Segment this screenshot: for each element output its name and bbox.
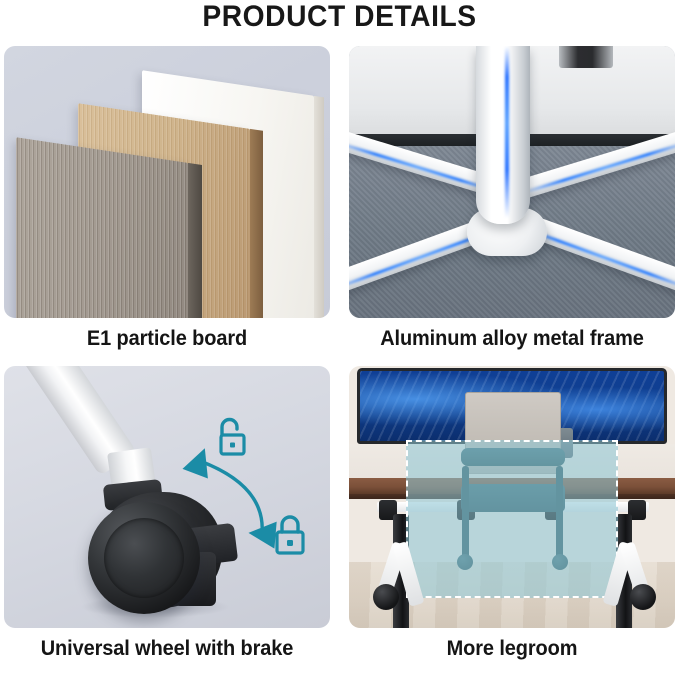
caption-aluminum-alloy-metal-frame: Aluminum alloy metal frame xyxy=(357,327,667,351)
product-details-infographic: PRODUCT DETAILS E1 particle board Alumin… xyxy=(0,0,679,673)
curved-double-arrow xyxy=(200,461,262,534)
lock-icon xyxy=(272,514,312,558)
aluminum-frame-image xyxy=(349,46,675,318)
panel-aluminum-alloy-metal-frame: Aluminum alloy metal frame xyxy=(349,46,675,351)
more-legroom-image xyxy=(349,366,675,628)
panel-universal-wheel-with-brake: Universal wheel with brake xyxy=(4,366,330,661)
e1-particle-board-image xyxy=(4,46,330,318)
legroom-highlight-area xyxy=(406,440,618,598)
frame-clamp xyxy=(559,46,613,68)
panel-e1-particle-board: E1 particle board xyxy=(4,46,330,351)
caster-wheel-image xyxy=(4,366,330,628)
desk-caster-right xyxy=(630,584,656,610)
unlock-icon xyxy=(210,417,250,459)
lock-toggle-annotation xyxy=(4,366,330,628)
gray-board-edge xyxy=(188,163,202,318)
oak-board-edge xyxy=(250,129,263,318)
page-title: PRODUCT DETAILS xyxy=(20,0,658,40)
caption-e1-particle-board: E1 particle board xyxy=(12,327,322,351)
gray-board-sample xyxy=(16,137,188,318)
desk-caster-left xyxy=(373,584,399,610)
blue-light-reflection xyxy=(505,46,509,218)
frame-center-column xyxy=(476,46,530,224)
caption-universal-wheel-with-brake: Universal wheel with brake xyxy=(12,637,322,661)
panel-more-legroom: More legroom xyxy=(349,366,675,661)
white-board-edge xyxy=(314,96,324,318)
caption-more-legroom: More legroom xyxy=(357,637,667,661)
